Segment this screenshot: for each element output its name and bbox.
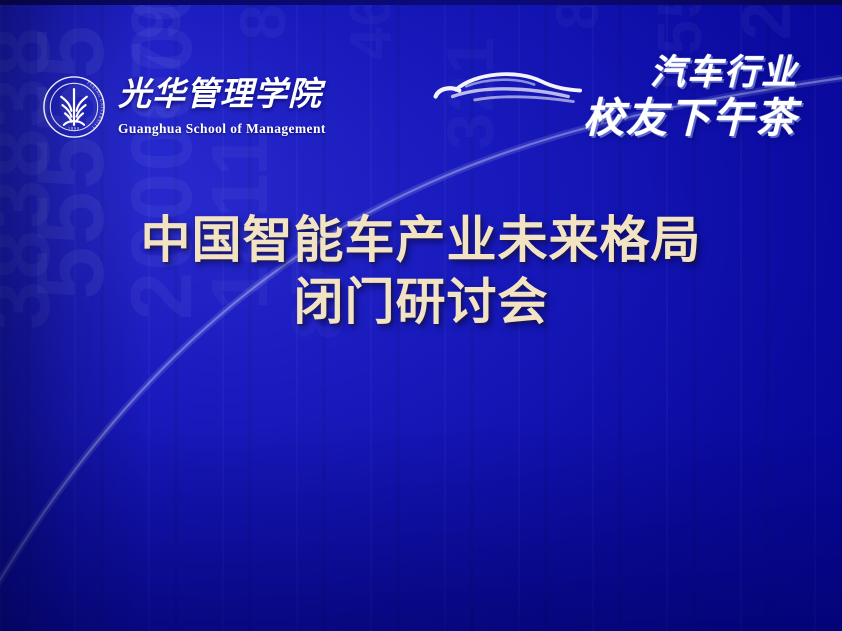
logo-text-block: 光华管理学院 Guanghua School of Management bbox=[118, 72, 328, 137]
event-brand-block: 汽车行业 校友下午茶 bbox=[583, 54, 798, 141]
car-silhouette-icon bbox=[422, 62, 592, 114]
svg-text:1898: 1898 bbox=[68, 126, 80, 131]
brand-line-1: 汽车行业 bbox=[583, 54, 798, 91]
background-digit-column: 4646 bbox=[337, 0, 404, 60]
pku-seal-emblem: PEKING UNIVERSITY 1898 bbox=[42, 75, 106, 139]
logo-english-name: Guanghua School of Management bbox=[118, 121, 328, 137]
logo-chinese-name: 光华管理学院 bbox=[118, 76, 328, 120]
svg-text:PEKING UNIVERSITY: PEKING UNIVERSITY bbox=[86, 80, 105, 131]
slide-title: 中国智能车产业未来格局 闭门研讨会 bbox=[0, 212, 842, 330]
title-line-2: 闭门研讨会 bbox=[0, 274, 842, 330]
brand-line-2: 校友下午茶 bbox=[583, 97, 798, 140]
guanghua-logo: PEKING UNIVERSITY 1898 光华管理学 bbox=[42, 72, 328, 139]
background-digit-column: 87987 bbox=[226, 0, 300, 40]
top-dark-band bbox=[0, 0, 842, 5]
title-line-1: 中国智能车产业未来格局 bbox=[0, 212, 842, 268]
bottom-shade bbox=[0, 421, 842, 631]
presentation-slide: 0850987110120093528798541387987104246463… bbox=[0, 0, 842, 631]
background-digit-column: 2021 bbox=[726, 0, 806, 40]
